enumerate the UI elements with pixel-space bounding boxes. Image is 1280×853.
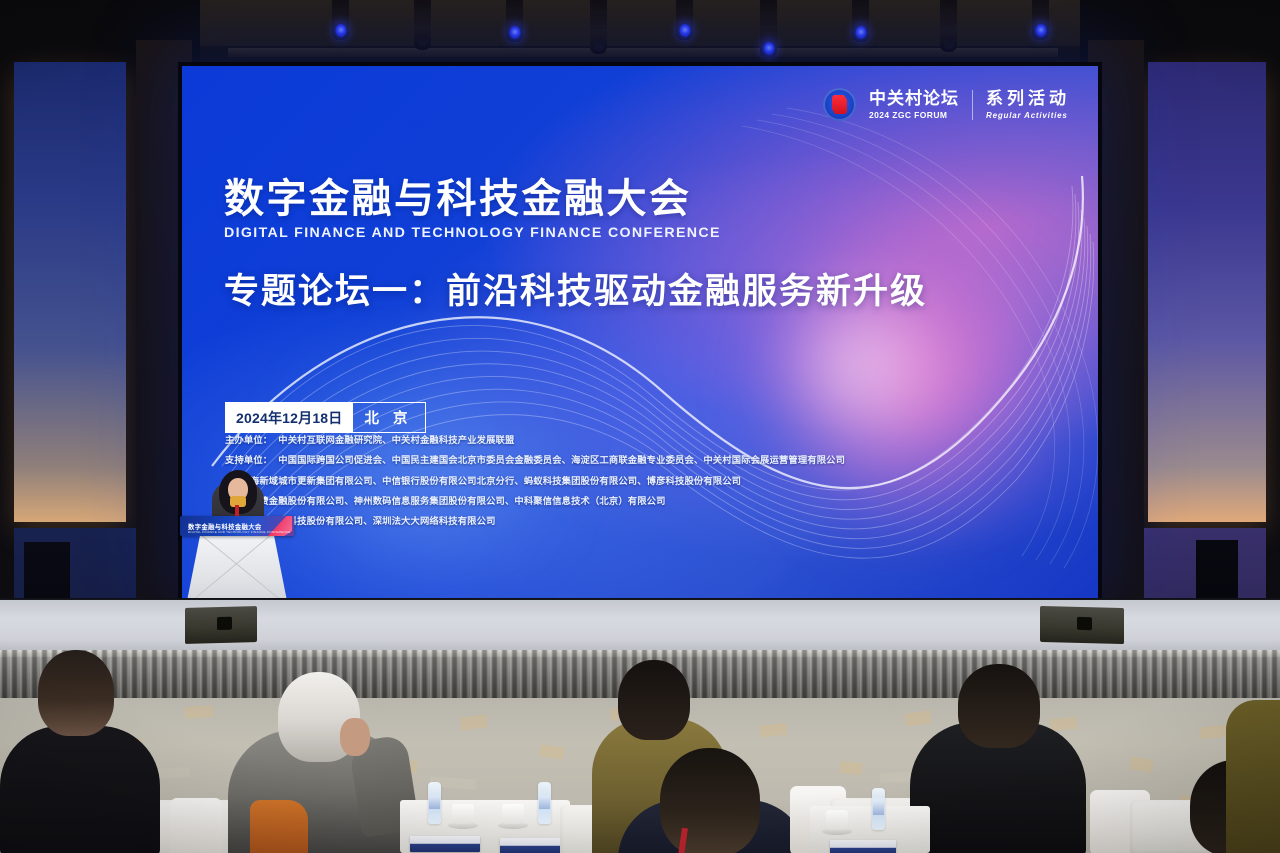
stage-light-icon <box>506 0 523 42</box>
left-wall-upper-panel <box>14 62 126 522</box>
organizer-label: 支持单位： <box>225 455 272 465</box>
brand-title-group: 中关村论坛 2024 ZGC FORUM <box>869 90 959 120</box>
organizer-line: 支持单位：中国国际跨国公司促进会、中国民主建国会北京市委员会金融委员会、海淀区工… <box>225 456 925 465</box>
right-wall-upper-panel <box>1148 62 1266 522</box>
audience-member-head <box>38 650 114 736</box>
organizer-line: 主办单位：中关村互联网金融研究院、中关村金融科技产业发展联盟 <box>225 436 925 445</box>
organizer-line: 北京海新域城市更新集团有限公司、中信银行股份有限公司北京分行、蚂蚁科技集团股份有… <box>225 477 925 486</box>
brand-logo: 中关村论坛 2024 ZGC FORUM 系列活动 Regular Activi… <box>823 88 1070 121</box>
organizer-text: 中关村互联网金融研究院、中关村金融科技产业发展联盟 <box>278 435 514 445</box>
name-card <box>830 840 896 853</box>
date-location-badge: 2024年12月18日 北 京 <box>225 402 426 433</box>
audience-member-head <box>958 664 1040 748</box>
audience-member-head <box>660 748 760 853</box>
name-card <box>410 836 480 852</box>
conference-hall-photo: 中关村论坛 2024 ZGC FORUM 系列活动 Regular Activi… <box>0 0 1280 853</box>
stage-light-icon <box>676 0 693 40</box>
badge-city: 北 京 <box>353 403 425 432</box>
lighting-truss <box>228 48 1058 57</box>
lectern <box>186 534 288 606</box>
organizer-line: 马上消费金融股份有限公司、神州数码信息服务集团股份有限公司、中科聚信信息技术（北… <box>225 497 925 506</box>
brand-title-cn: 中关村论坛 <box>869 90 959 107</box>
audience-member-scarf <box>250 800 308 853</box>
organizer-text: 北京海新域城市更新集团有限公司、中信银行股份有限公司北京分行、蚂蚁科技集团股份有… <box>231 476 741 486</box>
lectern-facet-lines <box>186 534 288 606</box>
water-bottle <box>428 782 441 824</box>
brand-title-en: 2024 ZGC FORUM <box>869 111 959 120</box>
lectern-sign-en: DIGITAL FINANCE AND TECHNOLOGY FINANCE C… <box>188 530 291 534</box>
audience-member-torso <box>1226 700 1280 853</box>
audience-member-torso <box>0 726 160 853</box>
brand-sub-group: 系列活动 Regular Activities <box>986 90 1070 120</box>
badge-date: 2024年12月18日 <box>226 403 353 432</box>
water-bottle <box>538 782 551 824</box>
teacup <box>452 804 474 824</box>
stage-monitor-left <box>185 606 257 644</box>
brand-sub-en: Regular Activities <box>986 112 1070 120</box>
brand-sub-cn: 系列活动 <box>986 90 1070 107</box>
organizer-text: 马上消费金融股份有限公司、神州数码信息服务集团股份有限公司、中科聚信信息技术（北… <box>231 496 666 506</box>
organizer-line: 上海合合信息科技股份有限公司、深圳法大大网络科技有限公司 <box>225 517 925 526</box>
organizer-label: 主办单位： <box>225 435 272 445</box>
audience-member-hand <box>340 718 370 756</box>
organizer-text: 中国国际跨国公司促进会、中国民主建国会北京市委员会金融委员会、海淀区工商联金融专… <box>278 455 845 465</box>
stage-light-icon <box>760 0 777 58</box>
teacup <box>826 810 848 830</box>
led-screen: 中关村论坛 2024 ZGC FORUM 系列活动 Regular Activi… <box>182 66 1098 598</box>
sofa-arm <box>170 798 222 853</box>
stage-light-icon <box>332 0 349 40</box>
stage-light-icon <box>1032 0 1049 40</box>
stage-light-icon <box>590 0 607 54</box>
stage-light-icon <box>852 0 869 42</box>
water-bottle <box>872 788 885 830</box>
organizer-list: 主办单位：中关村互联网金融研究院、中关村金融科技产业发展联盟 支持单位：中国国际… <box>225 436 925 537</box>
led-screen-frame: 中关村论坛 2024 ZGC FORUM 系列活动 Regular Activi… <box>178 62 1102 602</box>
teacup <box>502 804 524 824</box>
brand-divider <box>972 90 973 120</box>
headline-subtitle-cn: 专题论坛一：前沿科技驱动金融服务新升级 <box>224 263 927 314</box>
stage-light-icon <box>414 0 431 50</box>
ceiling-band <box>145 0 1135 46</box>
stage-light-icon <box>940 0 957 52</box>
zgc-flame-icon <box>823 88 856 121</box>
screen-headline-block: 数字金融与科技金融大会 DIGITAL FINANCE AND TECHNOLO… <box>224 178 927 314</box>
headline-en: DIGITAL FINANCE AND TECHNOLOGY FINANCE C… <box>224 225 927 241</box>
headline-cn: 数字金融与科技金融大会 <box>224 178 927 220</box>
stage-monitor-right <box>1040 606 1124 644</box>
audience-member-head <box>618 660 690 740</box>
podium-area: 数字金融与科技金融大会 DIGITAL FINANCE AND TECHNOLO… <box>178 468 296 608</box>
lectern-sign: 数字金融与科技金融大会 DIGITAL FINANCE AND TECHNOLO… <box>180 516 294 536</box>
